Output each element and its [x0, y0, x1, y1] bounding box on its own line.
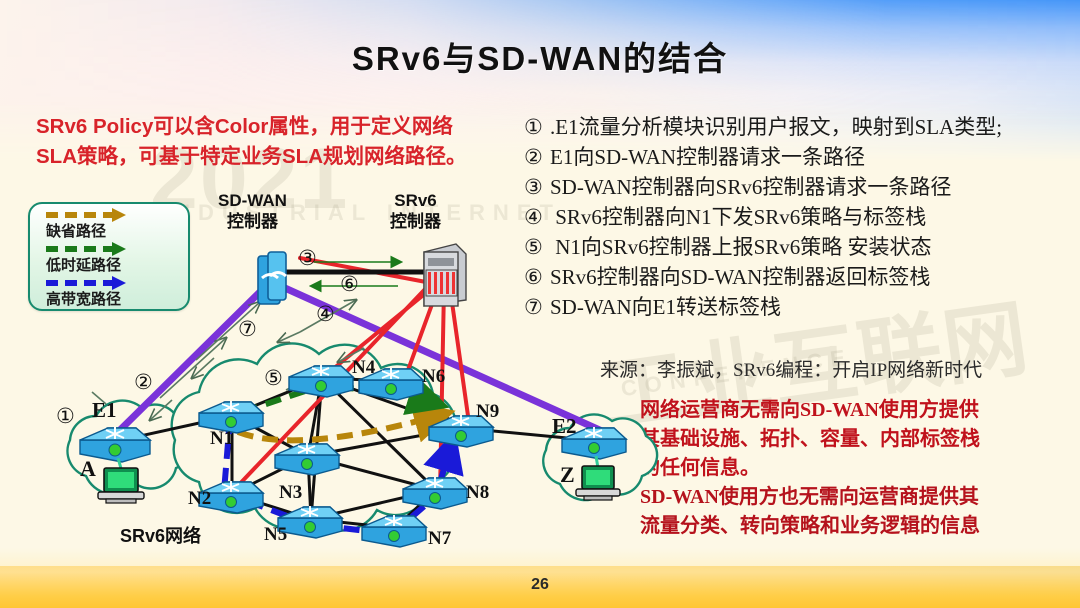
srv6-controller-label-line2: 控制器 [390, 211, 441, 232]
network-topology-diagram [0, 0, 1080, 608]
node-label-N3: N3 [279, 482, 302, 504]
srv6-network-label: SRv6网络 [120, 525, 201, 548]
sdwan-controller-label-line1: SD-WAN [218, 190, 287, 211]
node-label-N9: N9 [476, 401, 499, 423]
flow-marker-6: ⑥ [340, 272, 359, 297]
node-label-E2: E2 [552, 414, 577, 439]
router-N7 [362, 515, 426, 547]
srv6-controller-label: SRv6 控制器 [390, 190, 441, 233]
node-label-N7: N7 [428, 528, 451, 550]
flow-marker-1: ① [56, 404, 75, 429]
cloud-label-z: Z [560, 462, 575, 488]
node-label-N5: N5 [264, 524, 287, 546]
sdwan-controller-label-line2: 控制器 [218, 211, 287, 232]
flow-marker-2: ② [134, 370, 153, 395]
node-label-N2: N2 [188, 488, 211, 510]
node-label-E1: E1 [92, 398, 117, 423]
flow-marker-3: ③ [298, 246, 317, 271]
srv6-controller-icon [424, 244, 466, 306]
node-label-N1: N1 [210, 428, 233, 450]
flow-marker-7: ⑦ [238, 317, 257, 342]
node-label-N4: N4 [352, 357, 375, 379]
srv6-controller-label-line1: SRv6 [390, 190, 441, 211]
page-number: 26 [0, 576, 1080, 594]
node-label-N8: N8 [466, 482, 489, 504]
slide-canvas: 2021 INDUSTRIAL INTERNET 工业互联网 CONFERENC… [0, 0, 1080, 608]
flow-marker-5: ⑤ [264, 366, 283, 391]
sdwan-controller-icon [258, 252, 286, 304]
flow-marker-4: ④ [316, 302, 335, 327]
cloud-label-a: A [80, 456, 96, 482]
sdwan-controller-label: SD-WAN 控制器 [218, 190, 287, 233]
node-label-N6: N6 [422, 366, 445, 388]
